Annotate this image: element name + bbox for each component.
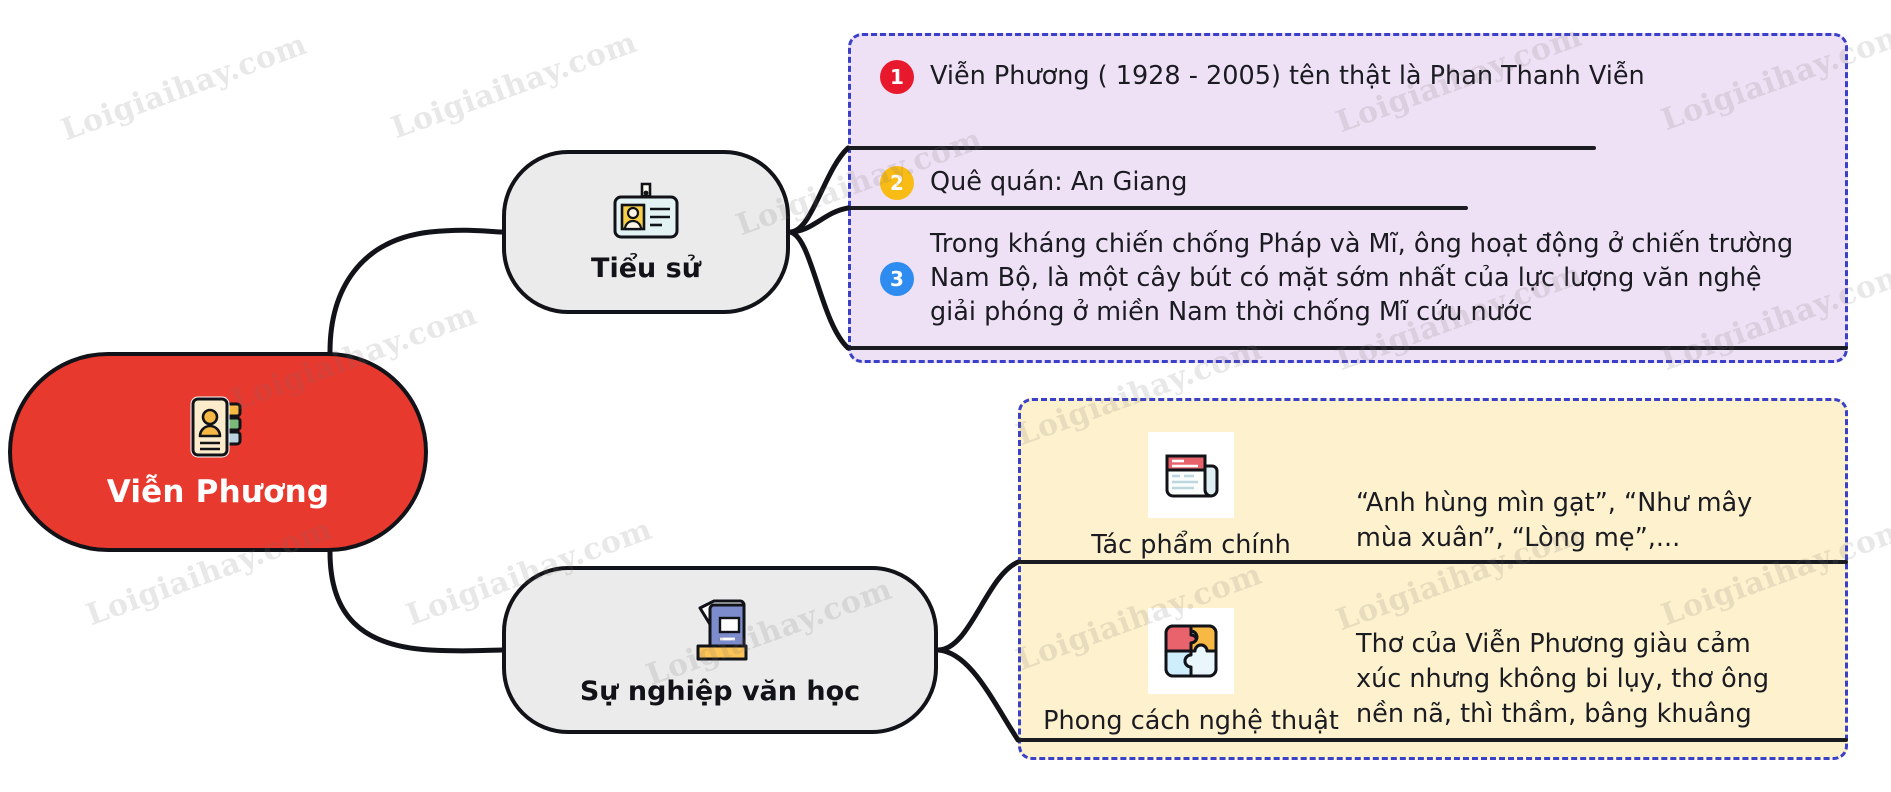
bio-divider-3 (848, 346, 1848, 350)
career-item-1[interactable]: Tác phẩm chính “Anh hùng mìn gạt”, “Như … (1026, 432, 1786, 561)
bio-item-2-badge: 2 (880, 166, 914, 200)
branch-node-bio[interactable]: Tiểu sử (502, 150, 790, 314)
id-badge-icon (609, 181, 683, 247)
branch-node-career-label: Sự nghiệp văn học (580, 676, 860, 707)
root-node[interactable]: Viễn Phương (8, 352, 428, 552)
bio-item-3[interactable]: 3 Trong kháng chiến chống Pháp và Mĩ, ôn… (880, 228, 1810, 330)
puzzle-icon (1148, 608, 1234, 694)
bio-divider-1 (848, 146, 1596, 150)
book-icon (686, 594, 754, 670)
career-item-2-left: Phong cách nghệ thuật (1026, 608, 1356, 737)
bio-item-3-text: Trong kháng chiến chống Pháp và Mĩ, ông … (930, 228, 1810, 330)
career-item-1-left: Tác phẩm chính (1026, 432, 1356, 561)
bio-item-2[interactable]: 2 Quê quán: An Giang (880, 166, 1187, 200)
connector-bio-to-item-3 (790, 232, 848, 348)
career-divider-2 (1018, 738, 1848, 742)
career-item-2[interactable]: Phong cách nghệ thuật Thơ của Viễn Phươn… (1026, 608, 1786, 737)
connector-career-to-item-2 (938, 650, 1018, 740)
bio-item-1[interactable]: 1 Viễn Phương ( 1928 - 2005) tên thật là… (880, 60, 1645, 94)
connector-bio-to-item-2 (790, 208, 848, 232)
bio-item-1-text: Viễn Phương ( 1928 - 2005) tên thật là P… (930, 60, 1645, 94)
career-item-1-title: Tác phẩm chính (1091, 530, 1291, 561)
bio-item-2-text: Quê quán: An Giang (930, 166, 1187, 200)
newspaper-icon (1148, 432, 1234, 518)
career-item-1-text: “Anh hùng mìn gạt”, “Như mây mùa xuân”, … (1356, 486, 1786, 560)
bio-item-1-badge: 1 (880, 60, 914, 94)
branch-node-bio-label: Tiểu sử (591, 253, 701, 284)
connector-root-to-career (330, 552, 502, 651)
mindmap-canvas: 1 Viễn Phương ( 1928 - 2005) tên thật là… (0, 0, 1891, 792)
connector-career-to-item-1 (938, 562, 1018, 650)
career-divider-1 (1018, 560, 1848, 564)
career-item-2-title: Phong cách nghệ thuật (1043, 706, 1339, 737)
career-item-2-text: Thơ của Viễn Phương giàu cảm xúc nhưng k… (1356, 627, 1786, 737)
contact-card-icon (187, 394, 249, 464)
bio-item-3-badge: 3 (880, 262, 914, 296)
bio-divider-2 (848, 206, 1468, 210)
root-node-label: Viễn Phương (107, 474, 330, 510)
branch-node-career[interactable]: Sự nghiệp văn học (502, 566, 938, 734)
connector-root-to-bio (330, 230, 502, 352)
